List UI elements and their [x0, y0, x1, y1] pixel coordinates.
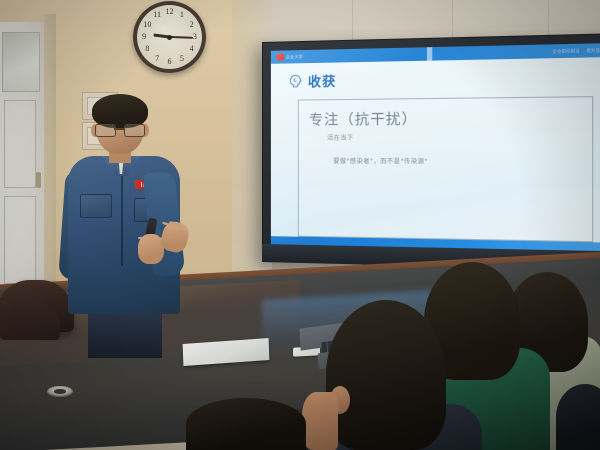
clock-numeral: 9: [138, 31, 150, 43]
presentation-slide: 企业大学 企业责任担当 提升竞争力 收获 专注（抗干: [271, 43, 600, 251]
slide-content-subtitle: 活在当下: [327, 132, 592, 142]
clock-numeral: 12: [164, 6, 176, 18]
wall-mounted-television: 企业大学 企业责任担当 提升竞争力 收获 专注（抗干: [262, 33, 600, 271]
jacket-zipper: [121, 174, 123, 266]
slide-topbar-item: 提升竞争力: [586, 47, 600, 54]
wall-clock: 12 1 2 3 4 5 6 7 8 9 10 11: [133, 1, 206, 73]
slide-brand-text: 企业大学: [286, 54, 303, 60]
clock-numeral: 5: [176, 53, 188, 65]
eyeglasses-icon: [95, 124, 145, 135]
eyeglass-bridge: [114, 128, 124, 130]
clock-numeral: 6: [164, 56, 176, 68]
clock-numeral: 2: [186, 19, 198, 31]
slide-brand: 企业大学: [277, 53, 303, 61]
audience-member-far-right-head: [556, 384, 600, 450]
eyeglass-lens: [95, 124, 116, 137]
door-panel: [4, 196, 36, 284]
door-panel: [4, 100, 36, 188]
presenter-left-fingers: [138, 230, 164, 246]
audience-member-front-left-head: [326, 300, 446, 450]
clock-minute-hand: [169, 36, 192, 39]
slide-title: 收获: [308, 71, 336, 91]
photo-scene: 12 1 2 3 4 5 6 7 8 9 10 11 企业大学: [0, 0, 600, 450]
jacket-pocket: [80, 194, 112, 218]
slide-content-box: 专注（抗干扰） 活在当下 要做"感染者"，而不是"传染源": [298, 96, 593, 242]
slide-content-quote: 要做"感染者"，而不是"传染源": [333, 156, 592, 166]
presenter: [62, 98, 192, 313]
tv-panel: 企业大学 企业责任担当 提升竞争力 收获 专注（抗干: [271, 43, 600, 251]
door-handle[interactable]: [36, 172, 41, 188]
brain-head-icon: [288, 73, 303, 89]
clock-numeral: 11: [151, 9, 163, 21]
audience-member-front-left-hand: [302, 392, 338, 450]
slide-content-heading: 专注（抗干扰）: [309, 107, 592, 130]
executive-chair[interactable]: [0, 300, 60, 340]
company-logo-icon: [277, 54, 284, 61]
clock-numeral: 8: [141, 43, 153, 55]
eyeglass-lens: [124, 124, 145, 137]
slide-topbar-notch: [427, 47, 432, 61]
cable-grommet[interactable]: [47, 386, 73, 397]
entry-door[interactable]: [0, 22, 46, 290]
audience-member-foreground-left-head: [186, 398, 306, 450]
slide-topbar-item: 企业责任担当: [553, 47, 580, 54]
door-glass-panel: [2, 32, 40, 92]
door-jamb: [44, 14, 56, 290]
clock-center-pin: [167, 35, 172, 40]
slide-topbar-right: 企业责任担当 提升竞争力: [553, 47, 600, 55]
presenter-hair: [92, 94, 148, 128]
